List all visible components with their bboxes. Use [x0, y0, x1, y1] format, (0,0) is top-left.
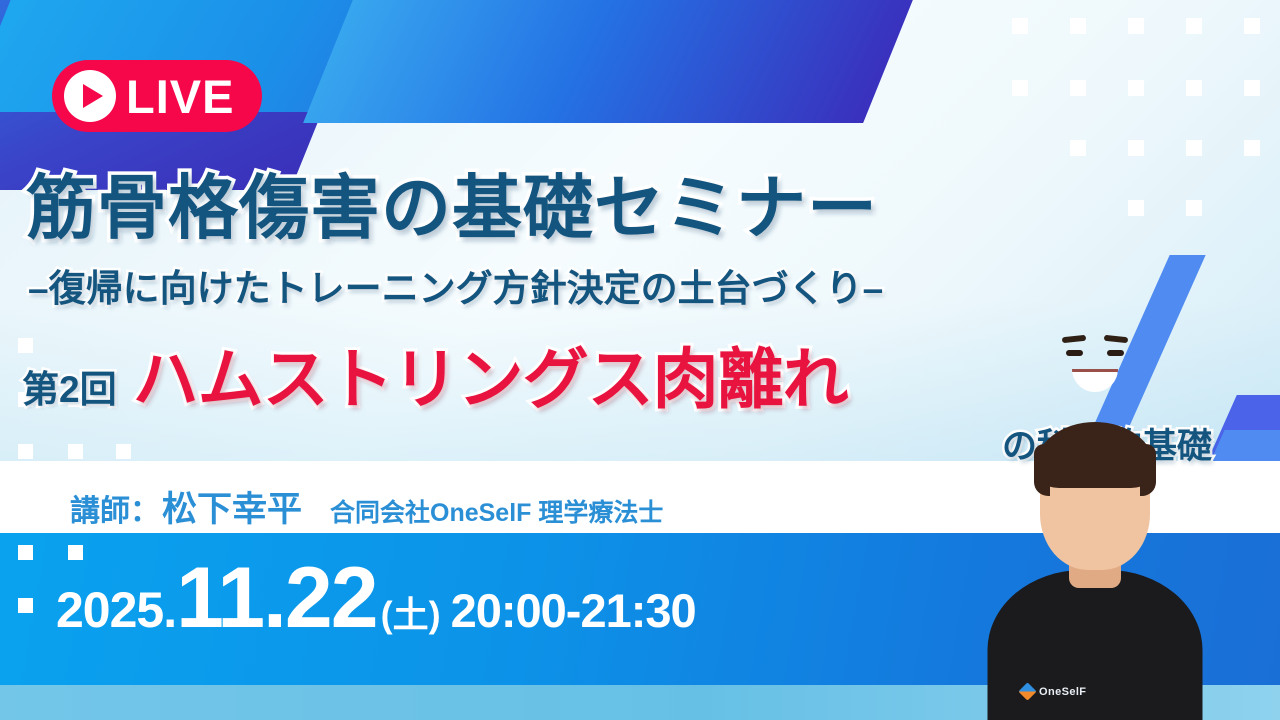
shirt-logo-text: OneSelF — [1039, 686, 1086, 698]
shirt-logo: OneSelF — [1021, 685, 1086, 698]
presenter-shirt — [987, 570, 1202, 720]
live-badge: LIVE — [52, 60, 262, 132]
presenter-eye-right — [1107, 350, 1124, 356]
schedule-time: 20:00-21:30 — [451, 583, 696, 638]
headline-topic: ハムストリングス肉離れ — [133, 326, 848, 422]
speaker-name: 松下幸平 — [162, 481, 302, 532]
presenter-eye-left — [1066, 350, 1083, 356]
live-badge-label: LIVE — [126, 73, 234, 120]
headline-row: 第2回 ハムストリングス肉離れ — [22, 326, 848, 422]
page-title: 筋骨格傷害の基礎セミナー — [26, 152, 878, 253]
schedule-year: 2025. — [56, 581, 176, 639]
play-icon — [64, 70, 116, 122]
schedule-month-day: 11.22 — [176, 560, 376, 637]
page-subtitle: –復帰に向けたトレーニング方針決定の土台づくり– — [28, 258, 883, 312]
seminar-banner: LIVE 筋骨格傷害の基礎セミナー –復帰に向けたトレーニング方針決定の土台づく… — [0, 0, 1280, 720]
oneself-diamond-icon — [1018, 682, 1036, 700]
schedule-day-of-week: (土) — [381, 586, 441, 638]
speaker-label: 講師： — [70, 486, 160, 530]
schedule-info: 2025. 11.22 (土) 20:00-21:30 — [56, 560, 696, 639]
episode-number: 第2回 — [22, 359, 117, 413]
presenter-portrait: OneSelF — [987, 420, 1202, 720]
presenter-hair — [1035, 422, 1155, 488]
speaker-affiliation: 合同会社OneSelF 理学療法士 — [330, 493, 663, 529]
speaker-info: 講師： 松下幸平 合同会社OneSelF 理学療法士 — [70, 481, 663, 532]
